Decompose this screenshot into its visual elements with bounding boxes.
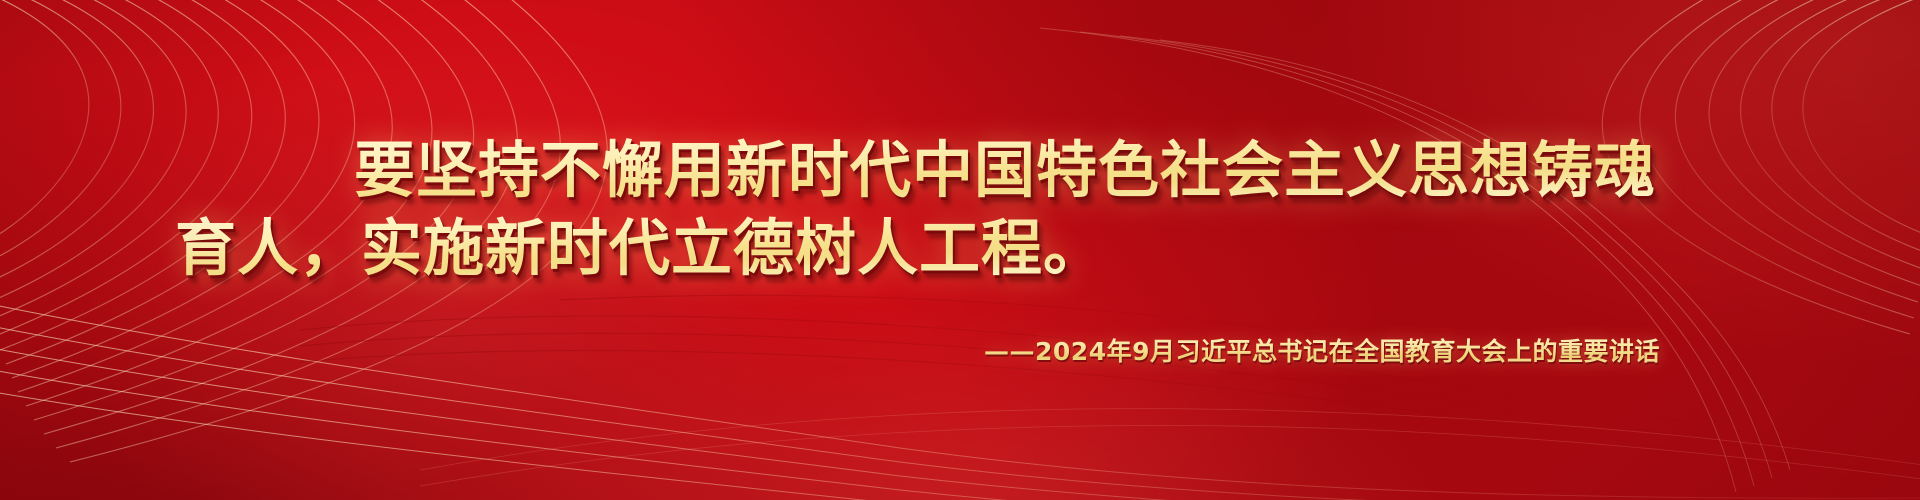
propaganda-banner: 要坚持不懈用新时代中国特色社会主义思想铸魂 育人，实施新时代立德树人工程。 ——… <box>0 0 1920 500</box>
banner-content: 要坚持不懈用新时代中国特色社会主义思想铸魂 育人，实施新时代立德树人工程。 ——… <box>0 0 1920 500</box>
headline-line-1: 要坚持不懈用新时代中国特色社会主义思想铸魂 <box>150 132 1860 210</box>
headline-line-2: 育人，实施新时代立德树人工程。 <box>60 210 1220 288</box>
speech-attribution: ——2024年9月习近平总书记在全国教育大会上的重要讲话 <box>60 332 1860 368</box>
